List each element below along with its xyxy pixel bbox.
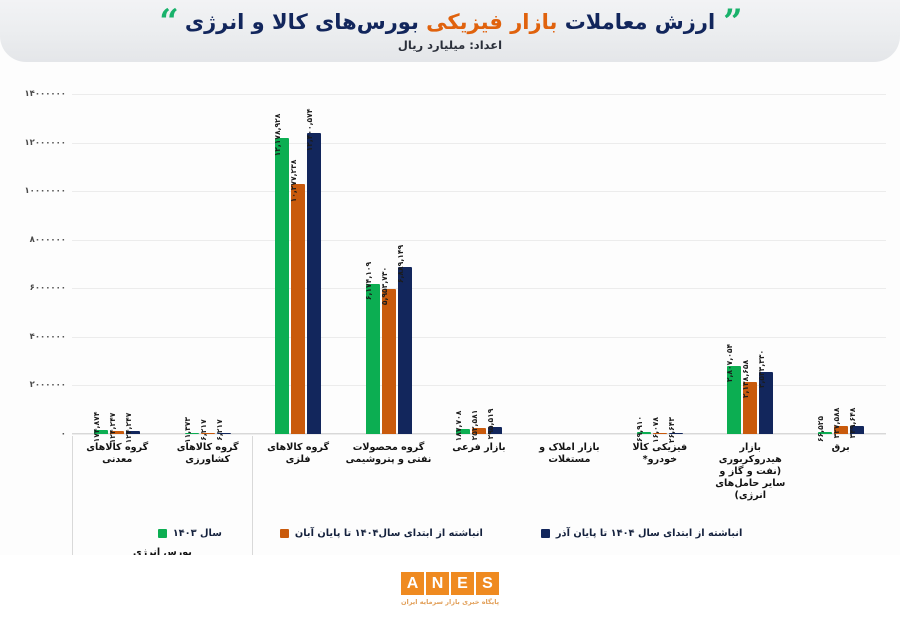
bar-group: ۶۹,۹۱۰۱۶,۰۷۸۲۶,۶۴۳: [615, 94, 705, 434]
bars-canvas: ۱۷۴,۸۷۴۱۲۴,۲۴۷۱۲۴,۲۴۷۱۱,۳۷۳۶,۲۱۷۶,۲۱۷۱۲,…: [72, 94, 886, 434]
bar-holder: ۲,۱۳۸,۶۵۸: [743, 94, 757, 434]
y-axis-tick: ۸۰۰۰۰۰۰: [30, 235, 66, 245]
bar-holder: ۰: [546, 94, 560, 434]
bar-holder: ۶۹,۹۱۰: [637, 94, 651, 434]
bar-value-label: ۱۰,۲۷۷,۲۳۸: [289, 160, 298, 203]
bar-group: ۱۱,۳۷۳۶,۲۱۷۶,۲۱۷: [162, 94, 252, 434]
bar-holder: ۲۶,۶۴۳: [669, 94, 683, 434]
y-axis: ۱۴۰۰۰۰۰۰۱۲۰۰۰۰۰۰۱۰۰۰۰۰۰۰۸۰۰۰۰۰۰۶۰۰۰۰۰۰۴۰…: [0, 94, 70, 434]
title-accent: بازار فیزیکی: [426, 10, 557, 34]
y-axis-tick: ۶۰۰۰۰۰۰: [30, 283, 66, 293]
bar-value-label: ۵,۹۵۳,۷۳۰: [380, 267, 389, 305]
legend-item[interactable]: انباشته از ابتدای سال۱۴۰۴ تا پایان آبان: [280, 528, 483, 539]
bar-group: ۱۷۴,۸۷۴۱۲۴,۲۴۷۱۲۴,۲۴۷: [72, 94, 162, 434]
gridline: [72, 434, 886, 435]
legend-item[interactable]: انباشته از ابتدای سال ۱۴۰۴ تا پایان آذر: [541, 528, 742, 539]
bar-holder: ۱۰,۲۷۷,۲۳۸: [291, 94, 305, 434]
bar-group: ۶,۱۷۴,۱۰۹۵,۹۵۳,۷۳۰۶,۸۸۹,۱۴۹: [343, 94, 433, 434]
bar-holder: ۶۶,۵۲۵: [818, 94, 832, 434]
bar-holder: ۲,۸۰۷,۰۵۴: [727, 94, 741, 434]
bar-holder: ۱۲,۴۰۰,۵۷۴: [307, 94, 321, 434]
logo-letter: A: [401, 572, 424, 595]
bar-value-label: ۲۹۵,۵۱۹: [486, 408, 495, 439]
bar[interactable]: [307, 133, 321, 434]
y-axis-tick: ۱۰۰۰۰۰۰۰: [24, 186, 66, 196]
bar-holder: ۲۹۵,۵۱۹: [488, 94, 502, 434]
logo-letter: E: [451, 572, 474, 595]
bar-value-label: ۱۲,۱۷۸,۹۲۸: [273, 114, 282, 157]
bar-holder: ۱۶,۰۷۸: [653, 94, 667, 434]
y-axis-tick: ۰: [61, 429, 66, 439]
title-part-1: ارزش معاملات: [565, 10, 715, 34]
title-row: ” ارزش معاملات بازار فیزیکی بورس‌های کال…: [159, 10, 740, 34]
quote-close-icon: “: [159, 12, 177, 32]
bar-value-label: ۳۲۷,۵۸۸: [832, 408, 841, 439]
bar-holder: ۶,۱۷۴,۱۰۹: [366, 94, 380, 434]
bar-holder: ۳۲۷,۵۸۸: [834, 94, 848, 434]
bar[interactable]: [366, 284, 380, 434]
bar-holder: ۱۲,۱۷۸,۹۲۸: [275, 94, 289, 434]
legend-label: انباشته از ابتدای سال ۱۴۰۴ تا پایان آذر: [556, 528, 742, 539]
units-subtitle: اعداد: میلیارد ریال: [398, 38, 502, 52]
bar-holder: ۱۲۴,۲۴۷: [126, 94, 140, 434]
bar-value-label: ۶,۱۷۴,۱۰۹: [364, 262, 373, 300]
y-axis-tick: ۱۴۰۰۰۰۰۰: [24, 89, 66, 99]
bar-group: ۱۸۷,۷۰۸۲۵۲,۵۸۱۲۹۵,۵۱۹: [434, 94, 524, 434]
bar-value-label: ۲,۱۳۸,۶۵۸: [741, 360, 750, 398]
bar-holder: ۱۸۷,۷۰۸: [456, 94, 470, 434]
y-axis-tick: ۱۲۰۰۰۰۰۰: [24, 138, 66, 148]
chart-area: ۱۴۰۰۰۰۰۰۱۲۰۰۰۰۰۰۱۰۰۰۰۰۰۰۸۰۰۰۰۰۰۶۰۰۰۰۰۰۴۰…: [0, 66, 900, 556]
bar-holder: ۵,۹۵۳,۷۳۰: [382, 94, 396, 434]
legend-swatch: [541, 529, 550, 538]
sena-logo: SENA: [401, 572, 499, 595]
legend-swatch: [280, 529, 289, 538]
bar-group: ۰۰۰: [524, 94, 614, 434]
bar-holder: ۱۱,۳۷۳: [185, 94, 199, 434]
logo-letter: S: [476, 572, 499, 595]
bar-holder: ۲,۵۳۳,۳۳۰: [759, 94, 773, 434]
bar-holder: ۶,۲۱۷: [201, 94, 215, 434]
bar-group: ۱۲,۱۷۸,۹۲۸۱۰,۲۷۷,۲۳۸۱۲,۴۰۰,۵۷۴: [253, 94, 343, 434]
chart-legend: سال ۱۴۰۳انباشته از ابتدای سال۱۴۰۴ تا پای…: [0, 520, 900, 546]
bar-group: ۶۶,۵۲۵۳۲۷,۵۸۸۳۴۹,۶۴۸: [796, 94, 886, 434]
legend-swatch: [158, 529, 167, 538]
logo-letter: N: [426, 572, 449, 595]
bar-holder: ۱۲۴,۲۴۷: [110, 94, 124, 434]
bar-holder: ۳۴۹,۶۴۸: [850, 94, 864, 434]
bar[interactable]: [398, 267, 412, 434]
y-axis-tick: ۴۰۰۰۰۰۰: [30, 332, 66, 342]
infographic-page: ” ارزش معاملات بازار فیزیکی بورس‌های کال…: [0, 0, 900, 623]
legend-label: سال ۱۴۰۳: [173, 528, 222, 539]
bar[interactable]: [291, 184, 305, 434]
y-axis-tick: ۲۰۰۰۰۰۰: [30, 380, 66, 390]
bar-value-label: ۲,۵۳۳,۳۳۰: [757, 350, 766, 388]
bar-holder: ۰: [578, 94, 592, 434]
logo-subtitle: پایگاه خبری بازار سرمایه ایران: [401, 598, 499, 606]
bar-holder: ۰: [562, 94, 576, 434]
legend-label: انباشته از ابتدای سال۱۴۰۴ تا پایان آبان: [295, 528, 483, 539]
header-banner: ” ارزش معاملات بازار فیزیکی بورس‌های کال…: [0, 0, 900, 62]
bar-value-label: ۱۲,۴۰۰,۵۷۴: [305, 108, 314, 151]
bar-value-label: ۳۴۹,۶۴۸: [848, 407, 857, 438]
bar-value-label: ۶,۸۸۹,۱۴۹: [396, 245, 405, 283]
bar-holder: ۶,۸۸۹,۱۴۹: [398, 94, 412, 434]
footer: SENA پایگاه خبری بازار سرمایه ایران: [0, 555, 900, 623]
legend-item[interactable]: سال ۱۴۰۳: [158, 528, 222, 539]
bar[interactable]: [382, 289, 396, 434]
bar-group: ۲,۸۰۷,۰۵۴۲,۱۳۸,۶۵۸۲,۵۳۳,۳۳۰: [705, 94, 795, 434]
title-part-2: بورس‌های کالا و انرژی: [185, 10, 419, 34]
bar[interactable]: [275, 138, 289, 434]
bar-holder: ۱۷۴,۸۷۴: [94, 94, 108, 434]
bar-value-label: ۲,۸۰۷,۰۵۴: [725, 344, 734, 382]
page-title: ارزش معاملات بازار فیزیکی بورس‌های کالا …: [185, 10, 715, 34]
bar-holder: ۲۵۲,۵۸۱: [472, 94, 486, 434]
bar-holder: ۶,۲۱۷: [217, 94, 231, 434]
quote-open-icon: ”: [723, 12, 741, 32]
